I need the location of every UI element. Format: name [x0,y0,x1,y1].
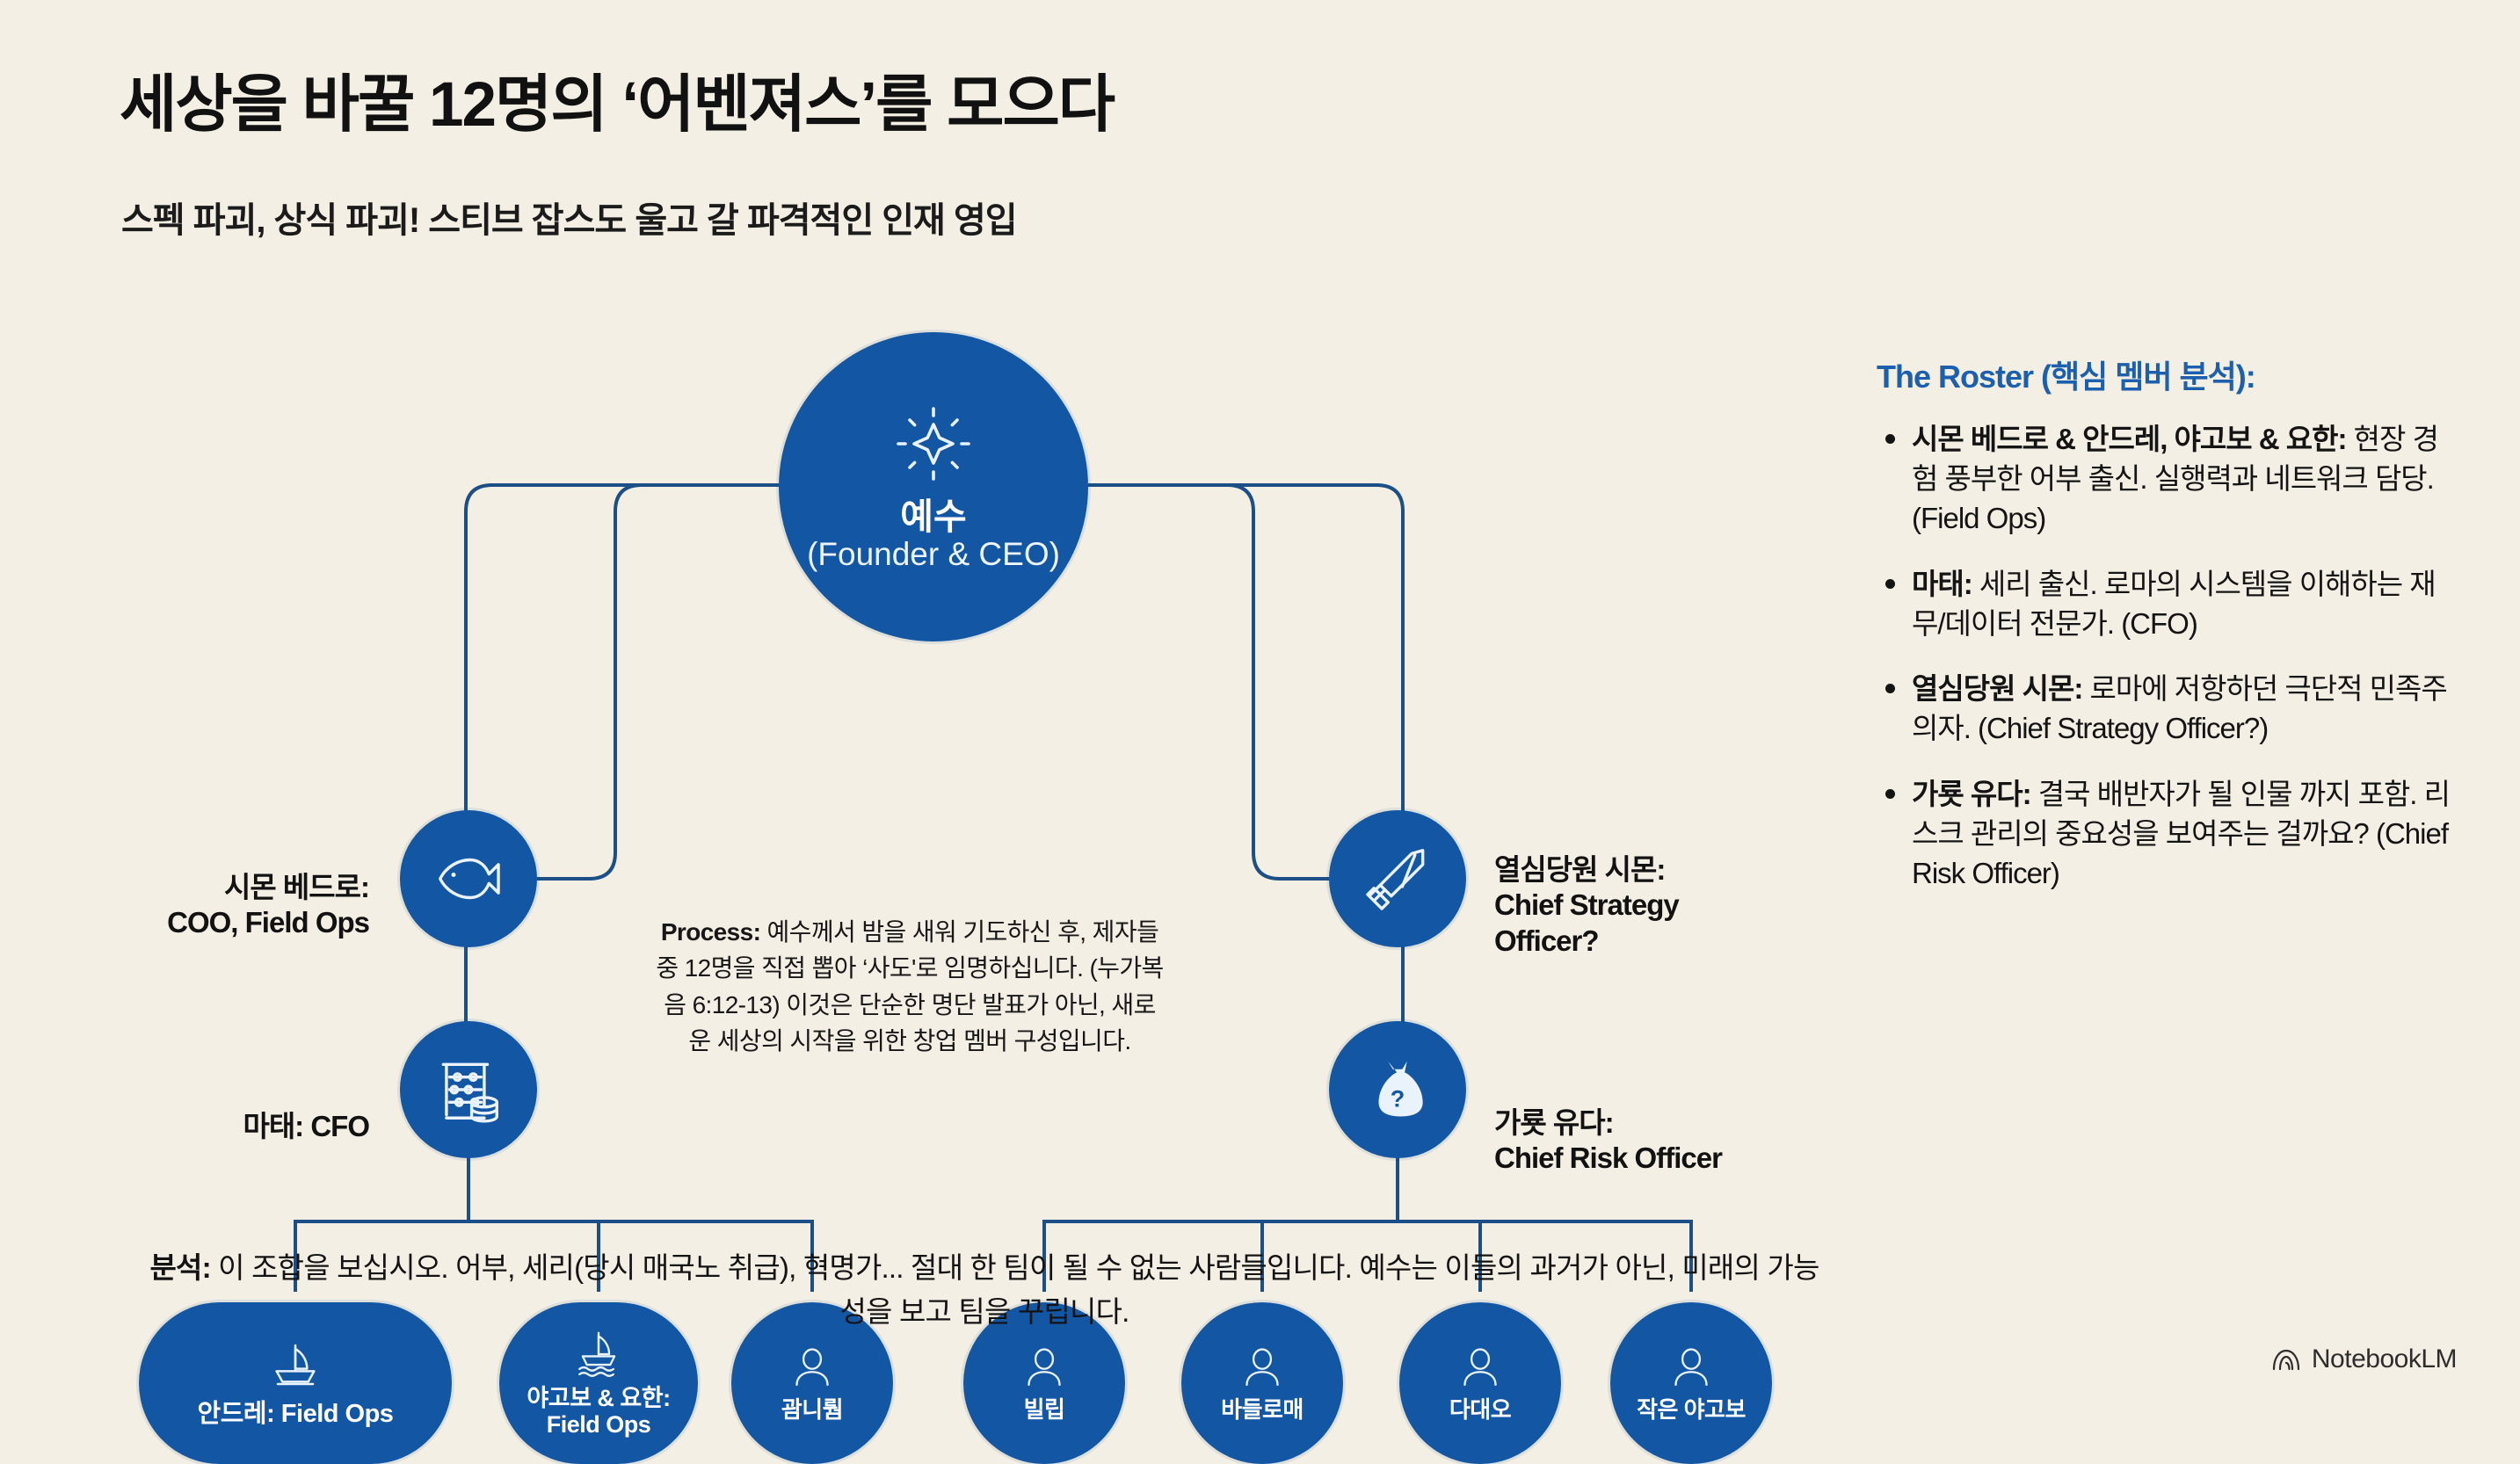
label-judas: 가룟 유다: Chief Risk Officer [1494,1105,1811,1177]
notebooklm-label: NotebookLM [2312,1344,2457,1374]
label-matthew: 마태: CFO [114,1109,369,1144]
node-ceo-role: (Founder & CEO) [807,536,1060,572]
node-simon-zealot[interactable] [1329,810,1466,947]
analysis-body: 이 조합을 보십시오. 어부, 세리(당시 매국노 취급), 혁명가... 절대… [211,1251,1819,1328]
page-subtitle: 스펙 파괴, 상식 파괴! 스티브 잡스도 울고 갈 파격적인 인재 영입 [121,192,1017,243]
sword-icon [1360,841,1435,917]
roster-item-desc: 세리 출신. 로마의 시스템을 이해하는 재무/데이터 전문가. (CFO) [1912,568,2436,640]
roster-item: 열심당원 시몬: 로마에 저항하던 극단적 민족주의자. (Chief Stra… [1877,670,2457,749]
person-icon [788,1343,837,1392]
roster-heading: The Roster (핵심 멤버 분석): [1877,352,2457,397]
node-matthew[interactable] [400,1021,537,1158]
label-simon-peter: 시몬 베드로: COO, Field Ops [114,870,369,941]
analysis-label: 분석: [149,1251,210,1284]
node-james-john-caption: 야고보 & 요한: Field Ops [521,1385,675,1438]
person-icon [1456,1343,1505,1392]
roster-item: 가룟 유다: 결국 배반자가 될 인물 까지 포함. 리스크 관리의 중요성을 … [1877,775,2457,894]
person-icon [1020,1343,1069,1392]
node-judas[interactable]: ? [1329,1021,1466,1158]
page-title: 세상을 바꿀 12명의 ‘어벤져스’를 모으다 [120,54,1114,144]
process-note: Process: 예수께서 밤을 새워 기도하신 후, 제자들 중 12명을 직… [655,914,1165,1060]
process-label: Process: [661,918,761,946]
node-bartholomew-caption: 바들로매 [1216,1397,1309,1423]
roster-item-name: 가룟 유다: [1912,778,2031,810]
person-icon [1667,1343,1716,1392]
roster-item-name: 열심당원 시몬: [1912,672,2082,705]
notebooklm-icon [2271,1347,2301,1372]
sailboat-icon [267,1338,323,1395]
abacus-coins-icon [431,1052,506,1127]
person-icon [1238,1343,1287,1392]
roster-item-name: 시몬 베드로 & 안드레, 야고보 & 요한: [1912,423,2347,455]
node-thaddaeus-caption: 다대오 [1444,1397,1516,1423]
svg-text:?: ? [1391,1086,1405,1112]
analysis-note: 분석: 이 조합을 보십시오. 어부, 세리(당시 매국노 취급), 혁명가..… [149,1246,1819,1333]
node-andrew-caption: 안드레: Field Ops [192,1400,399,1428]
roster-item: 시몬 베드로 & 안드레, 야고보 & 요한: 현장 경험 풍부한 어부 출신.… [1877,420,2457,539]
node-philip-caption: 빌립 [1019,1397,1071,1423]
node-simon-peter[interactable] [400,810,537,947]
node-james-minor-caption: 작은 야고보 [1631,1397,1751,1423]
roster-item-name: 마태: [1912,568,1972,600]
roster-list: 시몬 베드로 & 안드레, 야고보 & 요한: 현장 경험 풍부한 어부 출신.… [1877,420,2457,894]
sailboat-waves-icon [573,1329,624,1380]
infographic-page: 세상을 바꿀 12명의 ‘어벤져스’를 모으다 스펙 파괴, 상식 파괴! 스티… [0,0,2520,1406]
sparkle-icon [891,402,976,486]
fish-icon [431,841,506,917]
money-bag-question-icon: ? [1360,1052,1435,1127]
org-chart: 예수 (Founder & CEO) 시몬 베드로: COO, Field Op… [0,290,1881,1292]
label-simon-zealot: 열심당원 시몬: Chief Strategy Officer? [1494,852,1784,959]
roster-item: 마태: 세리 출신. 로마의 시스템을 이해하는 재무/데이터 전문가. (CF… [1877,565,2457,644]
node-ceo-name: 예수 [900,498,966,536]
node-ceo[interactable]: 예수 (Founder & CEO) [779,332,1088,641]
notebooklm-watermark: NotebookLM [2271,1344,2457,1374]
node-person-3-caption: 괌니뤔 [776,1397,848,1423]
roster-panel: The Roster (핵심 멤버 분석): 시몬 베드로 & 안드레, 야고보… [1877,352,2457,920]
